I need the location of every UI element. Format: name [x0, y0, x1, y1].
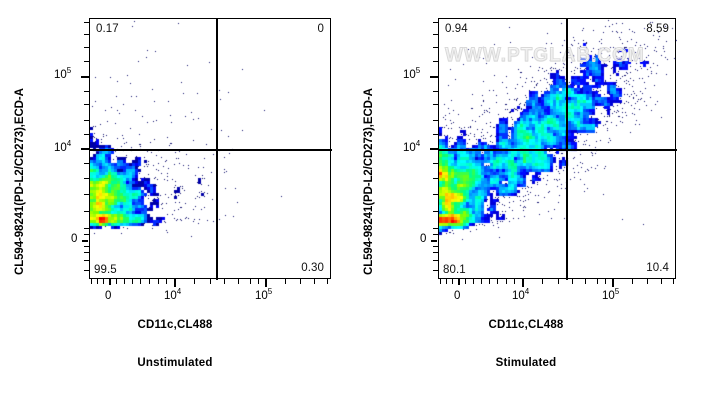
x-tick-label-0-right: 0 — [454, 290, 460, 302]
x-tick-label-1e4-right: 104 — [512, 290, 529, 302]
x-tick-minor — [673, 279, 674, 284]
y-tick-label-0-right: 0 — [420, 233, 426, 245]
quadrant-label-lower-left: 99.5 — [94, 264, 117, 276]
x-tick-minor — [514, 279, 515, 284]
x-tick-minor — [158, 279, 159, 284]
x-tick-minor — [124, 279, 125, 284]
y-tick-label-1e5-right: 105 — [403, 69, 420, 81]
x-tick-minor — [210, 279, 211, 284]
panel-caption-stimulated: Stimulated — [351, 357, 701, 369]
x-tick-minor — [300, 279, 301, 284]
x-axis-label-right: CD11c,CL488 — [351, 319, 701, 331]
x-tick-minor — [661, 279, 662, 284]
quadrant-label-lower-right: 10.4 — [646, 262, 669, 274]
x-tick-minor — [465, 279, 466, 284]
y-axis-label-right: CL594-98241(PD-L2/CD273),ECD-A — [363, 88, 375, 275]
x-tick-minor — [473, 279, 474, 284]
x-tick-minor — [250, 279, 251, 284]
x-tick-major — [458, 279, 460, 285]
y-tick-major — [430, 76, 438, 78]
y-tick-major — [81, 76, 89, 78]
y-tick-major — [81, 148, 89, 150]
x-tick-minor — [132, 279, 133, 284]
x-tick-major — [174, 279, 176, 287]
x-tick-minor — [166, 279, 167, 284]
x-tick-minor — [440, 279, 441, 284]
x-tick-minor — [597, 279, 598, 284]
y-tick-major — [430, 148, 438, 150]
x-tick-minor — [558, 279, 559, 284]
y-tick-major — [82, 240, 88, 242]
y-tick-label-1e5-left: 105 — [54, 69, 71, 81]
x-tick-minor — [585, 279, 586, 284]
x-tick-minor — [497, 279, 498, 284]
y-tick-label-1e4-left: 104 — [54, 142, 71, 154]
x-tick-major — [612, 279, 614, 287]
quadrant-label-lower-left: 80.1 — [443, 264, 466, 276]
x-tick-minor — [489, 279, 490, 284]
y-tick-major — [431, 240, 437, 242]
x-tick-minor — [97, 279, 98, 284]
panel-stimulated: CL594-98241(PD-L2/CD273),ECD-A 105 104 0 — [351, 0, 701, 406]
plot-area-stimulated[interactable]: WWW.PTGLAB.COM 0.94 8.59 80.1 10.4 — [438, 18, 676, 279]
x-tick-label-1e5-left: 105 — [255, 290, 272, 302]
y-axis-label-left: CL594-98241(PD-L2/CD273),ECD-A — [14, 88, 26, 275]
panel-caption-unstimulated: Unstimulated — [0, 357, 350, 369]
x-tick-minor — [572, 279, 573, 284]
x-tick-minor — [238, 279, 239, 284]
x-tick-minor — [481, 279, 482, 284]
panel-unstimulated: CL594-98241(PD-L2/CD273),ECD-A 105 104 0 — [0, 0, 350, 406]
x-tick-minor — [542, 279, 543, 284]
x-tick-minor — [647, 279, 648, 284]
x-axis-label-left: CD11c,CL488 — [0, 319, 350, 331]
y-tick-label-0-left: 0 — [71, 233, 77, 245]
x-tick-label-0-left: 0 — [105, 290, 111, 302]
x-tick-minor — [116, 279, 117, 284]
x-tick-minor — [140, 279, 141, 284]
quadrant-label-upper-right: 8.59 — [646, 23, 669, 35]
x-tick-minor — [91, 279, 92, 284]
x-tick-minor — [149, 279, 150, 284]
x-tick-minor — [224, 279, 225, 284]
x-tick-label-1e4-left: 104 — [164, 290, 181, 302]
x-tick-minor — [452, 279, 453, 284]
x-tick-major — [522, 279, 524, 287]
x-tick-label-1e5-right: 105 — [602, 290, 619, 302]
x-tick-minor — [194, 279, 195, 284]
quadrant-divider-horizontal — [439, 149, 677, 151]
x-tick-minor — [632, 279, 633, 284]
x-tick-minor — [103, 279, 104, 284]
x-tick-minor — [506, 279, 507, 284]
plot-area-unstimulated[interactable]: 0.17 0 99.5 0.30 — [89, 18, 331, 279]
x-tick-minor — [258, 279, 259, 284]
quadrant-label-upper-left: 0.17 — [96, 23, 119, 35]
x-tick-minor — [605, 279, 606, 284]
quadrant-label-upper-left: 0.94 — [445, 23, 468, 35]
y-tick-label-1e4-right: 104 — [403, 142, 420, 154]
quadrant-label-upper-right: 0 — [318, 23, 325, 35]
x-tick-major — [109, 279, 111, 285]
flow-cytometry-figure: CL594-98241(PD-L2/CD273),ECD-A 105 104 0 — [0, 0, 701, 406]
quadrant-label-lower-right: 0.30 — [301, 262, 324, 274]
x-tick-minor — [314, 279, 315, 284]
x-tick-minor — [285, 279, 286, 284]
x-tick-major — [265, 279, 267, 287]
x-tick-minor — [446, 279, 447, 284]
quadrant-divider-horizontal — [90, 149, 332, 151]
x-tick-minor — [327, 279, 328, 284]
